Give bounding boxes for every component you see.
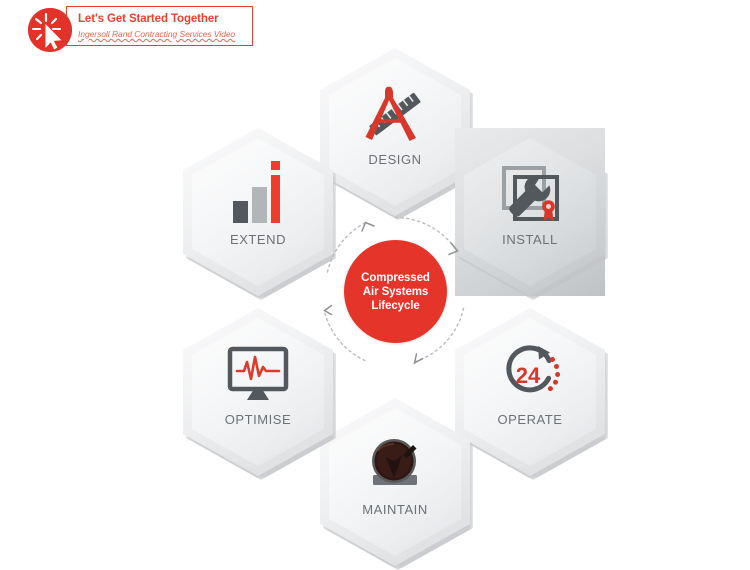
lifecycle-node-operate[interactable]: 24 OPERATE: [455, 308, 605, 476]
lifecycle-node-design[interactable]: DESIGN: [320, 48, 470, 216]
lifecycle-node-label: INSTALL: [455, 232, 605, 247]
center-line-2: Air Systems: [363, 286, 428, 298]
header-text-group: Let's Get Started Together Ingersoll Ran…: [78, 13, 253, 40]
center-badge-label: Compressed Air Systems Lifecycle: [361, 271, 430, 313]
header-badge: Let's Get Started Together Ingersoll Ran…: [28, 6, 254, 48]
lifecycle-node-optimise[interactable]: OPTIMISE: [183, 308, 333, 476]
center-badge: Compressed Air Systems Lifecycle: [344, 240, 447, 343]
center-line-1: Compressed: [361, 272, 430, 284]
lifecycle-center: Compressed Air Systems Lifecycle: [318, 214, 473, 369]
monitor-pulse-icon: [183, 338, 333, 410]
lifecycle-node-label: MAINTAIN: [320, 502, 470, 517]
lifecycle-node-maintain[interactable]: MAINTAIN: [320, 398, 470, 566]
lifecycle-node-label: EXTEND: [183, 232, 333, 247]
operate-badge-value: 24: [516, 363, 541, 388]
wrench-frame-seal-icon: [455, 158, 605, 230]
lifecycle-diagram: DESIGN INSTALL: [0, 0, 750, 544]
lifecycle-node-label: OPERATE: [455, 412, 605, 427]
24-hour-cycle-icon: 24: [455, 338, 605, 410]
bar-growth-icon: [183, 158, 333, 230]
lifecycle-node-extend[interactable]: EXTEND: [183, 128, 333, 296]
lifecycle-node-install[interactable]: INSTALL: [455, 128, 605, 296]
header-title: Let's Get Started Together: [78, 13, 253, 26]
center-line-3: Lifecycle: [371, 300, 419, 312]
cursor-sparkle-icon: [28, 8, 72, 52]
pressure-gauge-icon: [320, 428, 470, 500]
compass-ruler-icon: [320, 78, 470, 150]
lifecycle-node-label: DESIGN: [320, 152, 470, 167]
header-subtitle: Ingersoll Rand Contracting Services Vide…: [78, 28, 253, 40]
lifecycle-node-label: OPTIMISE: [183, 412, 333, 427]
